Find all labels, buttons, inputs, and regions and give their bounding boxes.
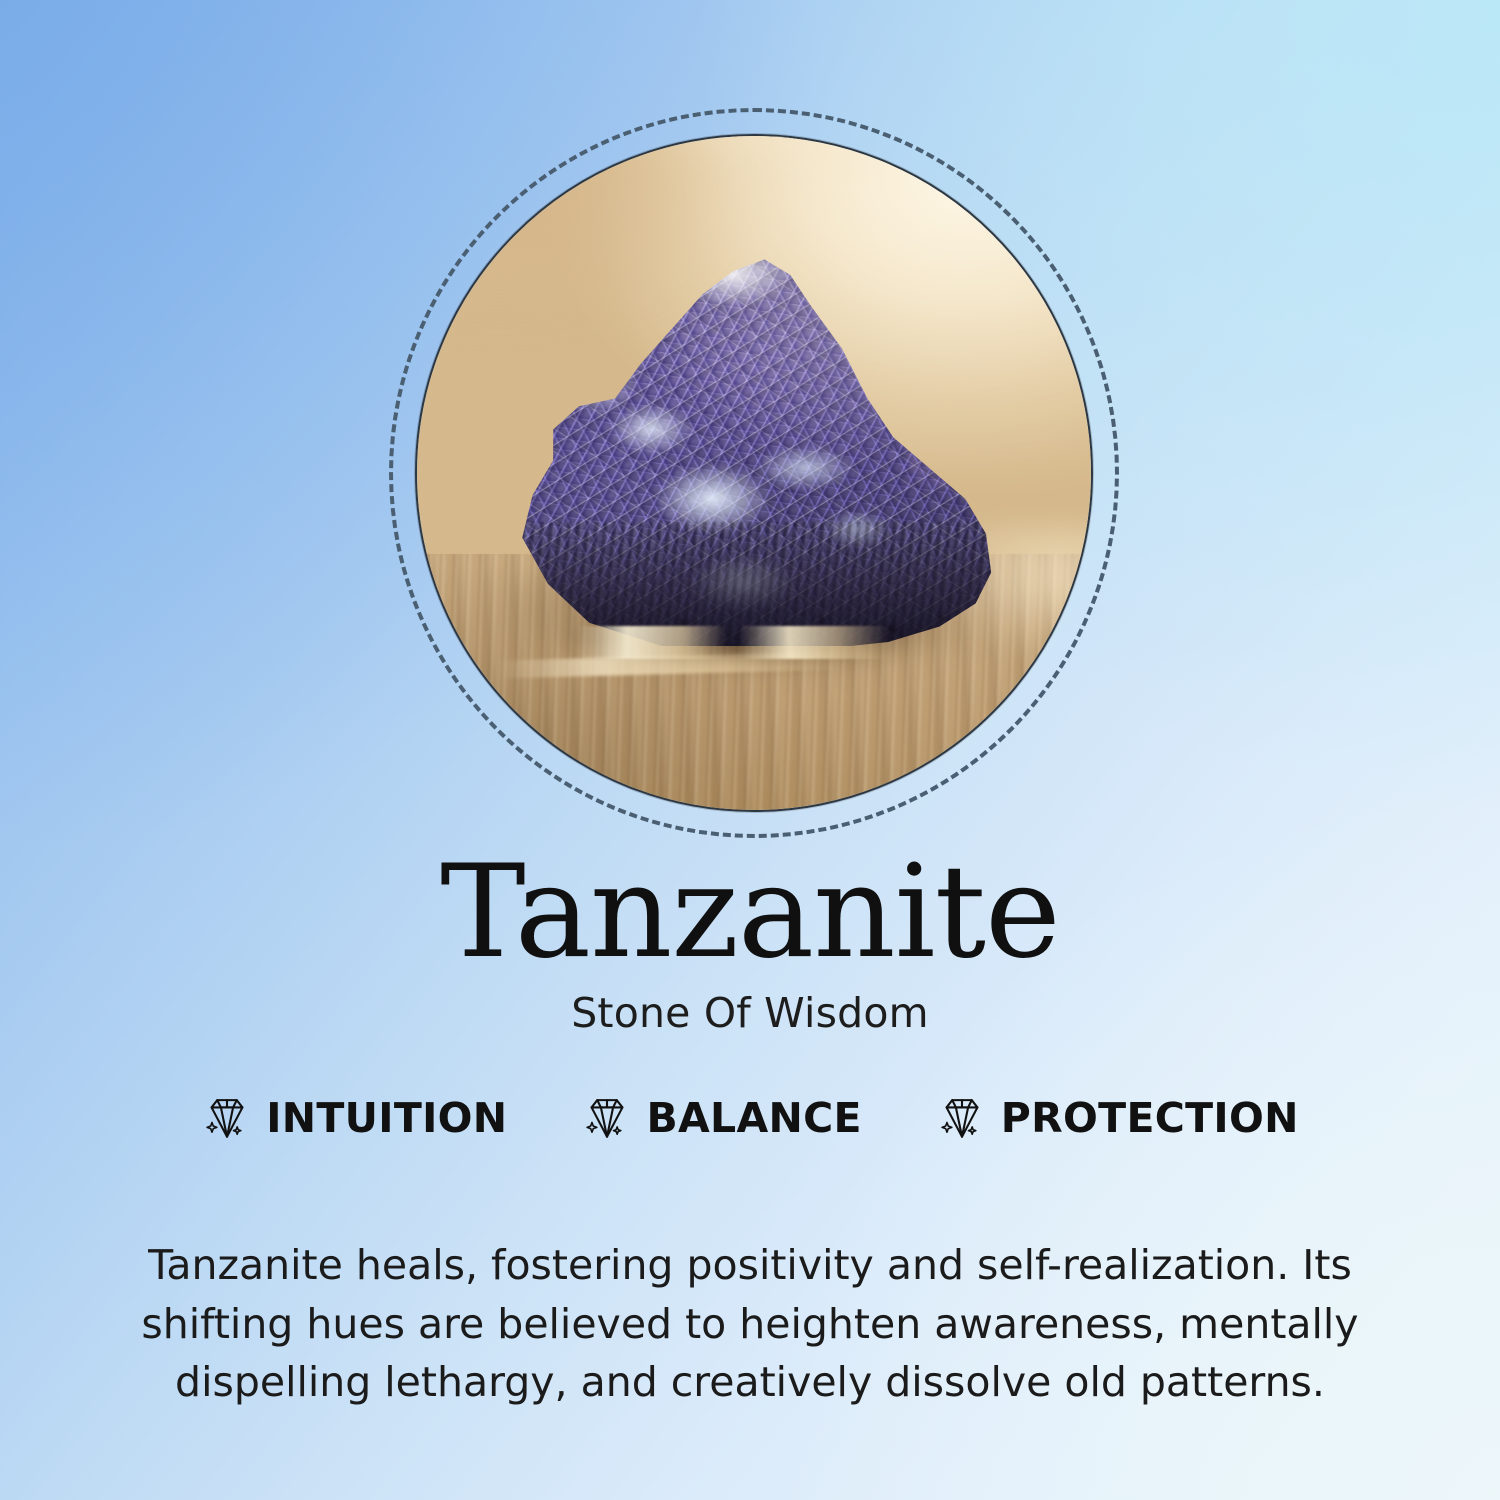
page-subtitle: Stone Of Wisdom [0, 989, 1500, 1037]
wood-splinters [578, 626, 931, 660]
attribute-label: PROTECTION [1001, 1094, 1299, 1142]
gemstone-medallion [389, 108, 1119, 838]
attribute-label: INTUITION [266, 1094, 507, 1142]
attribute-label: BALANCE [646, 1094, 861, 1142]
page-title: Tanzanite [0, 848, 1500, 979]
gem-icon [936, 1092, 988, 1144]
attribute-item: INTUITION [201, 1092, 507, 1144]
gemstone-info-card: Tanzanite Stone Of Wisdom INTUITION [0, 0, 1500, 1500]
attribute-item: BALANCE [581, 1092, 861, 1144]
gemstone-photo [415, 134, 1093, 812]
attributes-row: INTUITION BALANCE [0, 1092, 1500, 1144]
title-block: Tanzanite Stone Of Wisdom [0, 848, 1500, 1037]
attribute-item: PROTECTION [936, 1092, 1299, 1144]
description-text: Tanzanite heals, fostering positivity an… [96, 1236, 1404, 1412]
gem-icon [201, 1092, 253, 1144]
gem-icon [581, 1092, 633, 1144]
photo-scene [415, 134, 1093, 812]
